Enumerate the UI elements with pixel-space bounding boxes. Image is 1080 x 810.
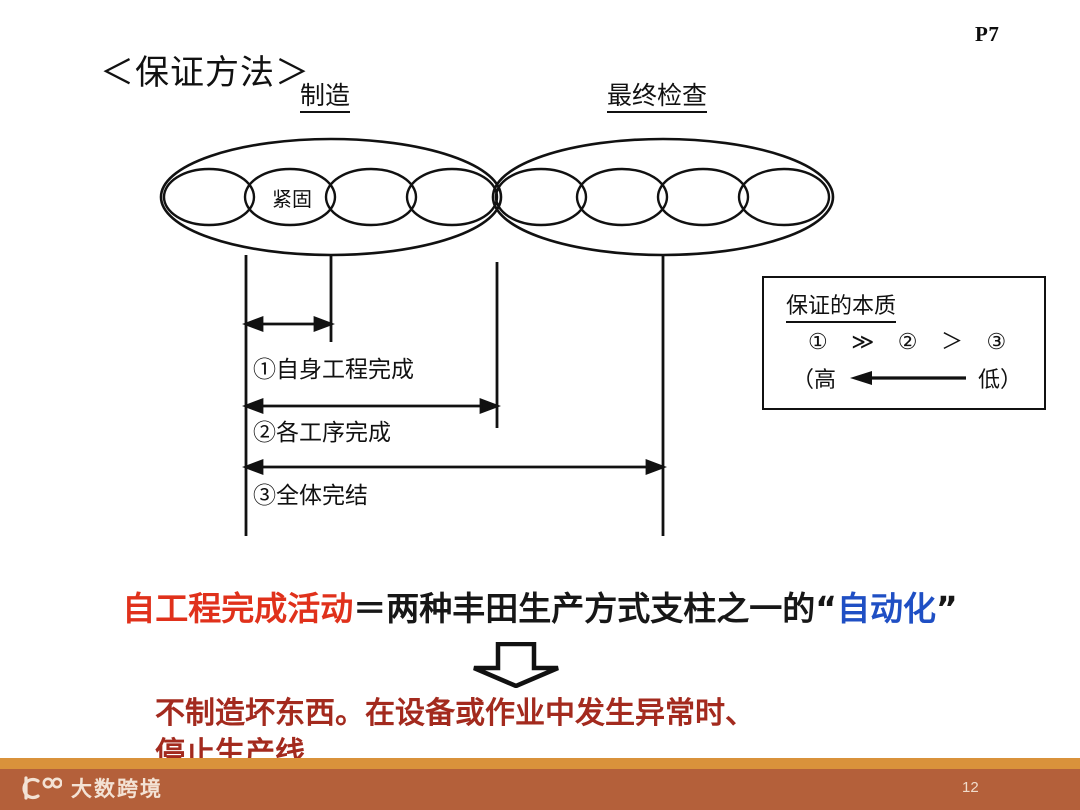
slide-canvas: P7 ＜保证方法＞ 制造 最终检查 <box>0 0 1080 810</box>
conclusion-red-term: 自工程完成活动 <box>122 589 353 628</box>
essence-box: 保证的本质 ① ≫ ② ＞ ③ （高 低） <box>762 276 1046 410</box>
essence-rank-row: ① ≫ ② ＞ ③ <box>802 324 1015 356</box>
measure-label-overall: ③全体完结 <box>253 476 368 510</box>
footer-band-light <box>0 758 1080 769</box>
result-line-1: 不制造坏东西。在设备或作业中发生异常时、 <box>155 694 955 734</box>
inspection-cell-3 <box>658 169 748 225</box>
down-arrow-wrap <box>466 642 566 693</box>
outer-ellipse-final-inspection <box>493 139 833 255</box>
measure-label-each-process: ②各工序完成 <box>253 413 391 447</box>
outer-ellipse-manufacture <box>161 139 501 255</box>
rank-operator-2: ＞ <box>941 329 966 354</box>
essence-scale-row: （高 低） <box>792 362 1022 392</box>
rank-operator-1: ≫ <box>851 329 877 354</box>
left-arrow-icon <box>850 371 968 385</box>
inspection-cell-1 <box>496 169 586 225</box>
rank-item-1: ① <box>808 329 831 354</box>
conclusion-black-term: ＝两种丰田生产方式支柱之一的 <box>353 589 815 628</box>
rank-item-3: ③ <box>987 329 1010 354</box>
rank-item-2: ② <box>898 329 921 354</box>
conclusion-line: 自工程完成活动＝两种丰田生产方式支柱之一的“自动化” <box>0 590 1080 628</box>
stage-label-manufacture: 制造 <box>300 84 350 113</box>
arrowhead-1-right <box>315 318 331 330</box>
arrowhead-3-left <box>246 461 262 473</box>
process-cell-3 <box>326 169 416 225</box>
inspection-cell-4 <box>739 169 829 225</box>
scale-label-high: （高 <box>792 362 836 394</box>
arrowhead-2-right <box>481 400 497 412</box>
essence-box-title: 保证的本质 <box>786 288 896 323</box>
down-block-arrow-icon <box>466 642 566 688</box>
arrowhead-2-left <box>246 400 262 412</box>
stage-label-final-inspection: 最终检查 <box>607 84 707 113</box>
inspection-cell-2 <box>577 169 667 225</box>
scale-label-low: 低） <box>978 362 1022 394</box>
quote-open: “ <box>815 589 837 628</box>
process-cell-1 <box>164 169 254 225</box>
watermark: 大数跨境 <box>22 773 163 803</box>
page-number: 12 <box>962 779 979 796</box>
page-marker: P7 <box>975 22 999 47</box>
page-title: ＜保证方法＞ <box>100 45 310 94</box>
watermark-text: 大数跨境 <box>71 773 163 803</box>
conclusion-blue-term: 自动化 <box>837 589 936 628</box>
quote-close: ” <box>936 589 958 628</box>
arrowhead-3-right <box>647 461 663 473</box>
arrowhead-1-left <box>246 318 262 330</box>
process-cell-label-tighten: 紧固 <box>258 183 326 212</box>
measure-label-self-process: ①自身工程完成 <box>253 350 414 384</box>
brand-logo-icon <box>22 775 62 801</box>
process-cell-4 <box>407 169 497 225</box>
